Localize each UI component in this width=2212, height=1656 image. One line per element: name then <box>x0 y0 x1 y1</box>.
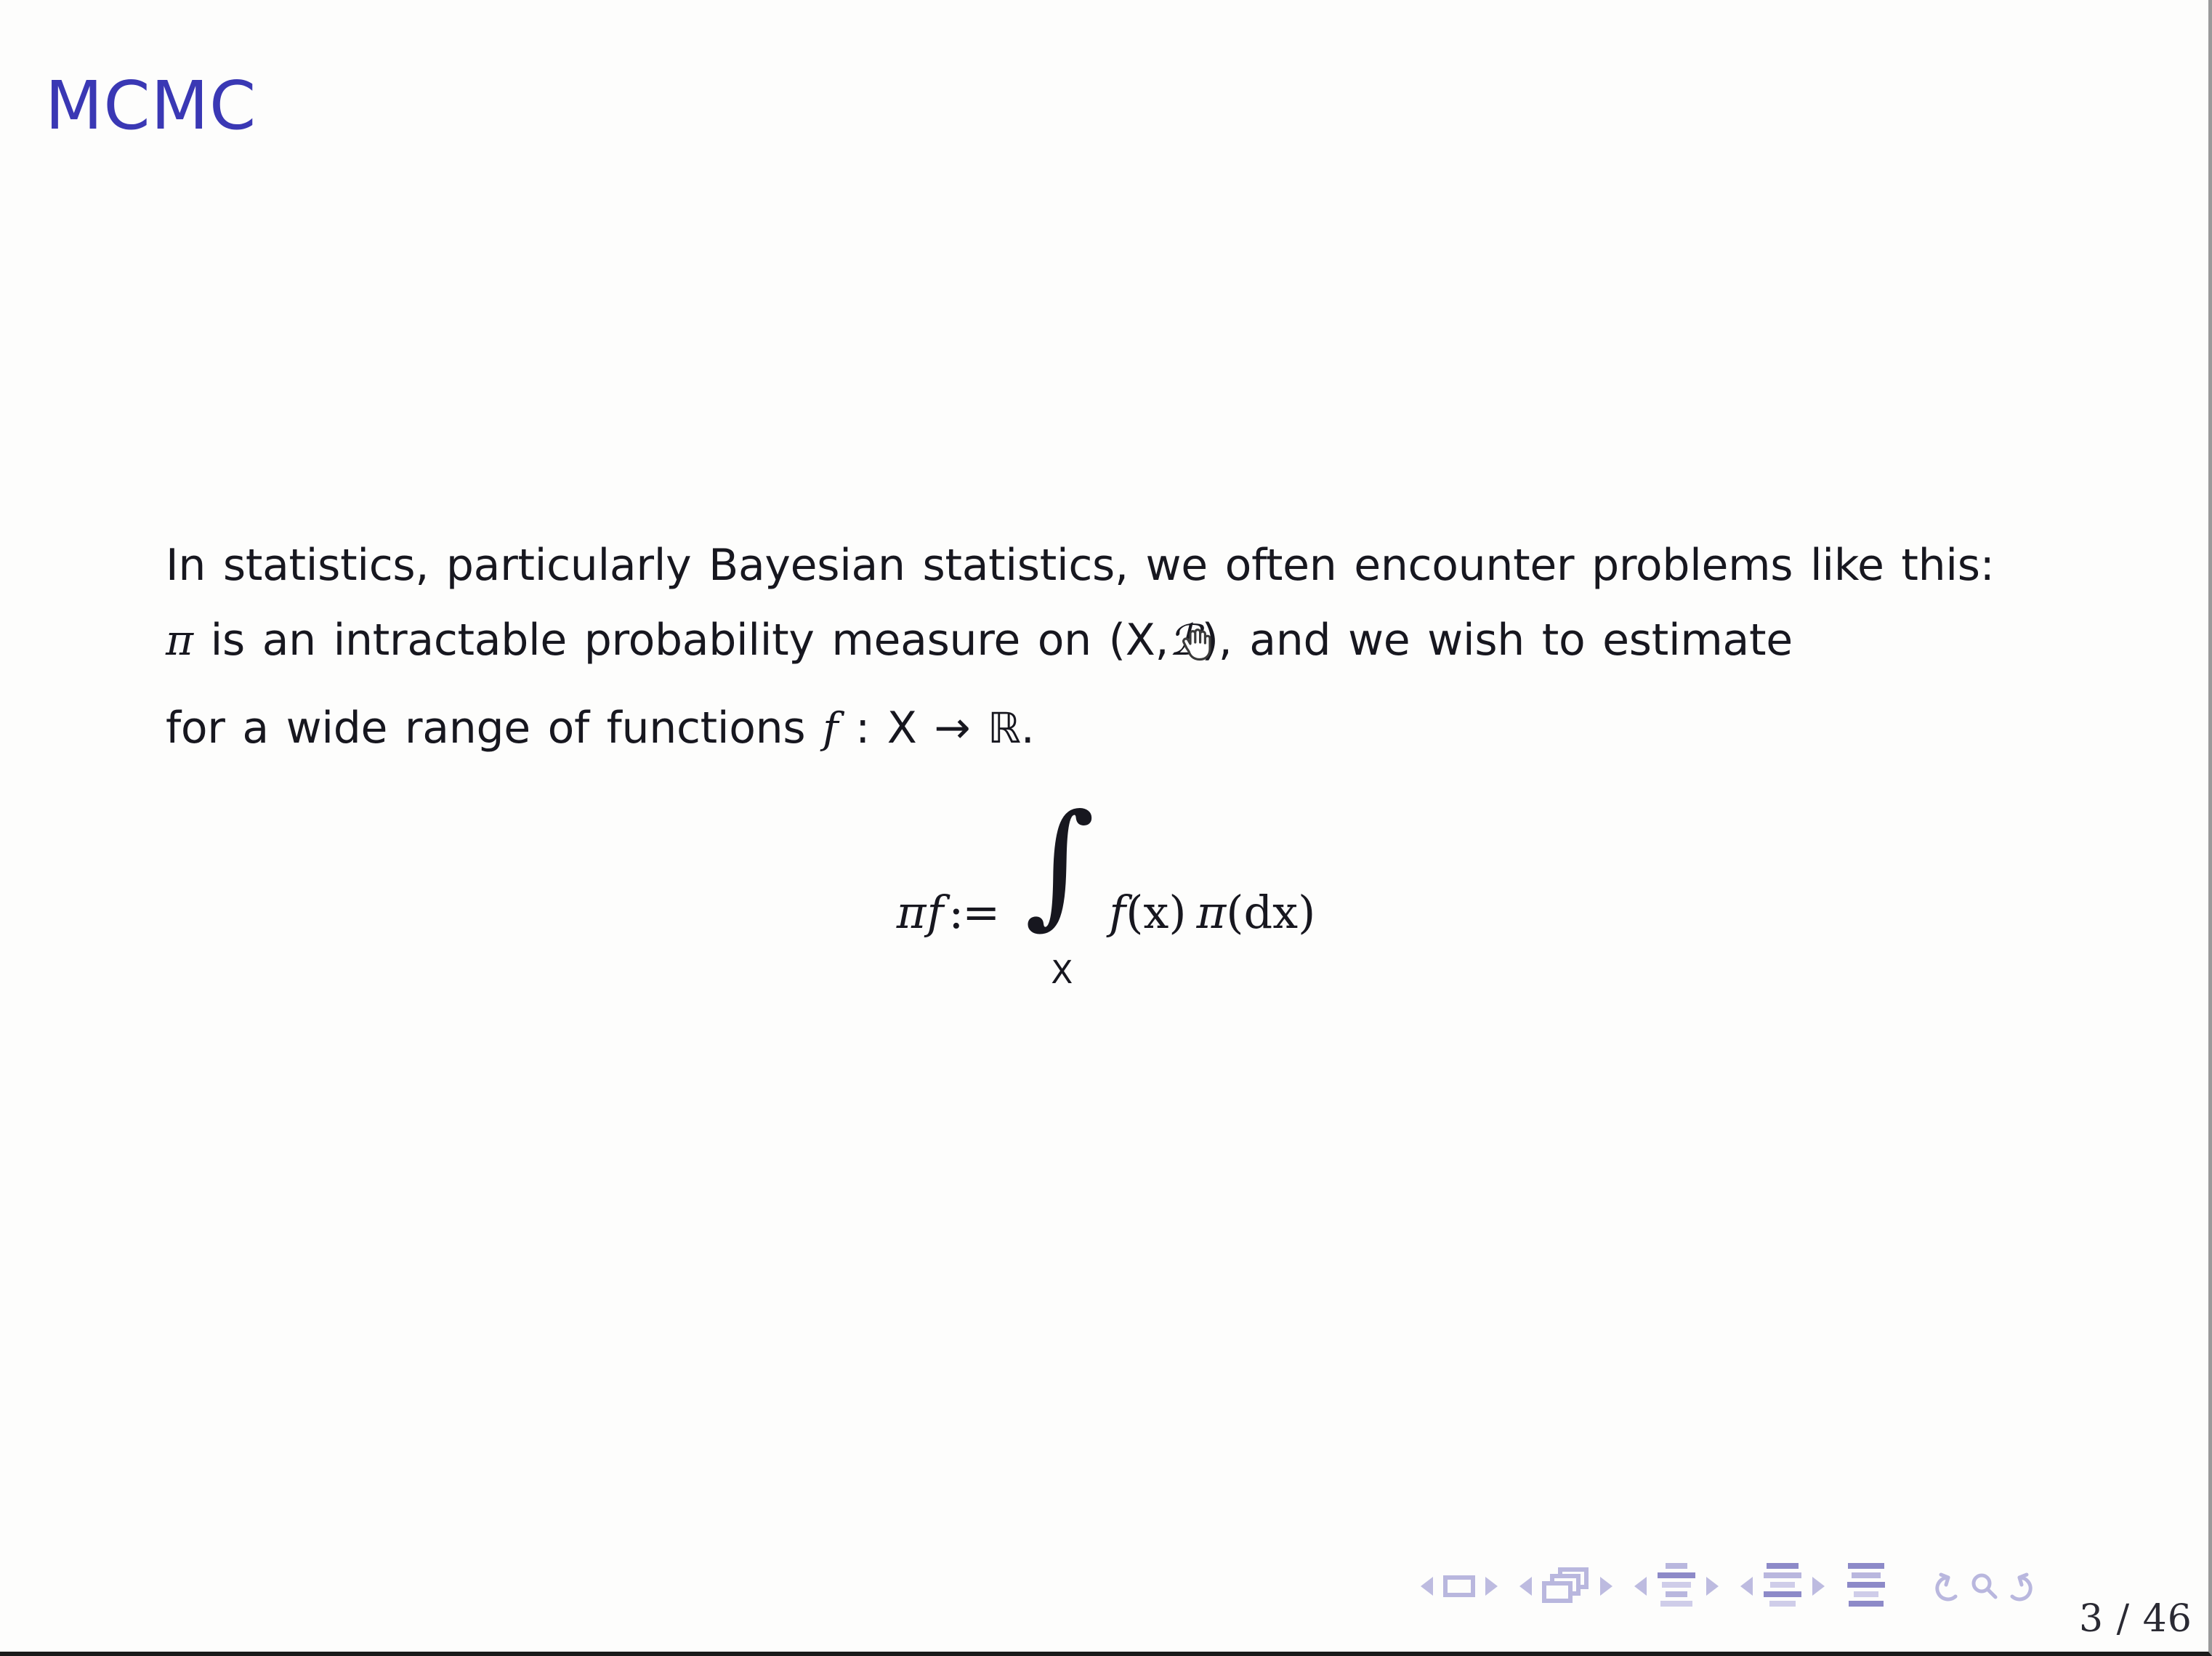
nav-history-controls[interactable] <box>1925 1569 2043 1604</box>
integrand-f: f <box>1109 886 1126 939</box>
presentation-slide: MCMC In statistics, particularly Bayesia… <box>0 0 2212 1656</box>
nav-group-slide[interactable] <box>1421 1575 1498 1597</box>
right-arrow-icon: → <box>934 703 970 754</box>
integral-sign-icon: ∫ <box>1025 796 1094 931</box>
function-symbol-f: f <box>823 703 838 753</box>
slide-icon[interactable] <box>1443 1575 1475 1597</box>
slide-title: MCMC <box>45 71 257 142</box>
back-icon[interactable] <box>1926 1569 1964 1604</box>
pi-symbol: π <box>166 615 193 665</box>
page-number-indicator: 3 / 46 <box>2079 1597 2192 1641</box>
document-icon[interactable] <box>1846 1563 1886 1610</box>
nav-group-presentation[interactable] <box>1846 1563 1886 1610</box>
prev-frame-icon[interactable] <box>1519 1577 1532 1596</box>
body-paragraph-2: π is an intractable probability measure … <box>166 614 1997 667</box>
equation-lhs-f: f <box>927 886 944 939</box>
forward-icon[interactable] <box>2003 1569 2041 1604</box>
integrand-argument: (x) <box>1126 886 1186 939</box>
nav-group-subsection[interactable] <box>1634 1563 1719 1610</box>
paragraph-3-period: . <box>1021 703 1035 754</box>
body-paragraph-3: for a wide range of functions f : X → ℝ. <box>166 702 2004 755</box>
equation-assign-operator: := <box>948 886 998 939</box>
subsection-icon[interactable] <box>1657 1563 1696 1610</box>
blackboard-r-symbol: ℝ <box>988 703 1021 753</box>
next-subsection-icon[interactable] <box>1706 1577 1719 1596</box>
frames-icon[interactable] <box>1542 1567 1590 1605</box>
equation-lhs-pi: π <box>897 886 927 939</box>
equation-rhs: f(x)π(dx) <box>1109 886 1315 939</box>
grab-hand-cursor-icon <box>1175 623 1219 667</box>
section-icon[interactable] <box>1763 1563 1802 1610</box>
slide-body: In statistics, particularly Bayesian sta… <box>166 539 2004 756</box>
nav-group-frame[interactable] <box>1519 1567 1612 1605</box>
domain-symbol-x: X <box>887 703 917 754</box>
colon-symbol: : <box>855 703 870 754</box>
paragraph-2-post: ), and we wish to estimate <box>1202 615 1793 666</box>
display-equation: πf:= ∫ X f(x)π(dx) <box>0 843 2212 981</box>
next-section-icon[interactable] <box>1812 1577 1825 1596</box>
paragraph-3-pre: for a wide range of functions <box>166 703 805 754</box>
prev-slide-icon[interactable] <box>1421 1577 1433 1596</box>
integral-subscript: X <box>1051 954 1073 991</box>
next-slide-icon[interactable] <box>1485 1577 1498 1596</box>
prev-section-icon[interactable] <box>1740 1577 1753 1596</box>
nav-group-section[interactable] <box>1740 1563 1825 1610</box>
next-frame-icon[interactable] <box>1600 1577 1612 1596</box>
beamer-navigation-bar[interactable] <box>1421 1564 2043 1609</box>
integral-group: ∫ X <box>1020 843 1100 981</box>
search-icon[interactable] <box>1967 1569 2001 1604</box>
paragraph-2-pre: is an intractable probability measure on… <box>211 615 1169 666</box>
prev-subsection-icon[interactable] <box>1634 1577 1647 1596</box>
measure-pi: π <box>1197 886 1227 939</box>
body-paragraph-1: In statistics, particularly Bayesian sta… <box>166 539 1997 592</box>
measure-differential: (dx) <box>1226 886 1315 939</box>
